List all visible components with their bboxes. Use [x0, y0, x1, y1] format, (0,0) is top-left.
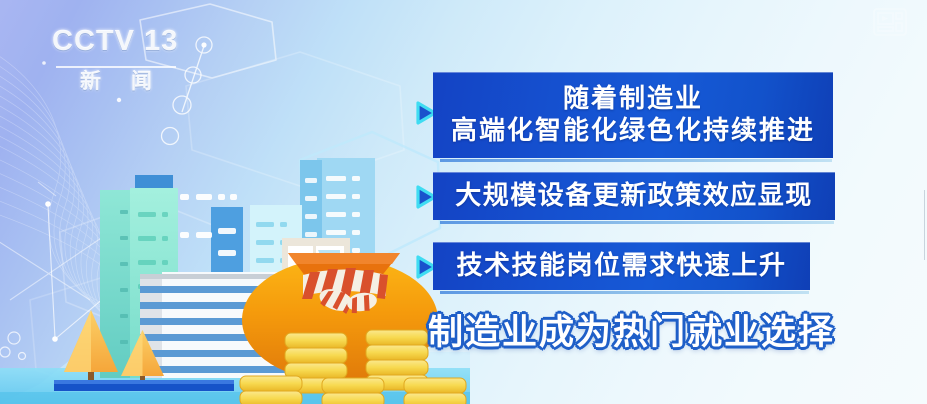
- broadcast-frame: CCTV 13 新 闻 随着制造业 高端化智能化绿色化持续推进: [0, 0, 927, 404]
- key-point-text-3: 技术技能岗位需求快速上升: [456, 250, 786, 282]
- key-point-line-1b: 高端化智能化绿色化持续推进: [451, 115, 815, 147]
- key-point-underline-1: [440, 159, 832, 162]
- key-point-line-1a: 随着制造业: [451, 83, 815, 115]
- key-point-box-1: 随着制造业 高端化智能化绿色化持续推进: [433, 72, 833, 158]
- news-key-points-panel: 随着制造业 高端化智能化绿色化持续推进 大规模设备更新政策效应显现 技术技能岗位…: [418, 58, 888, 378]
- key-point-box-3: 技术技能岗位需求快速上升: [433, 242, 810, 290]
- city-skyline-money-bag-illustration: [0, 0, 470, 404]
- headline-text: 制造业成为热门就业选择: [428, 312, 835, 355]
- key-point-text-1: 随着制造业 高端化智能化绿色化持续推进: [451, 83, 815, 146]
- key-point-text-2: 大规模设备更新政策效应显现: [455, 180, 813, 212]
- right-edge-line: [924, 190, 926, 260]
- key-point-underline-3: [440, 291, 809, 294]
- key-point-underline-2: [440, 221, 834, 224]
- key-point-box-2: 大规模设备更新政策效应显现: [433, 172, 835, 220]
- cctv-watermark-icon: [873, 8, 907, 36]
- headline-wrap: 制造业成为热门就业选择: [428, 304, 848, 362]
